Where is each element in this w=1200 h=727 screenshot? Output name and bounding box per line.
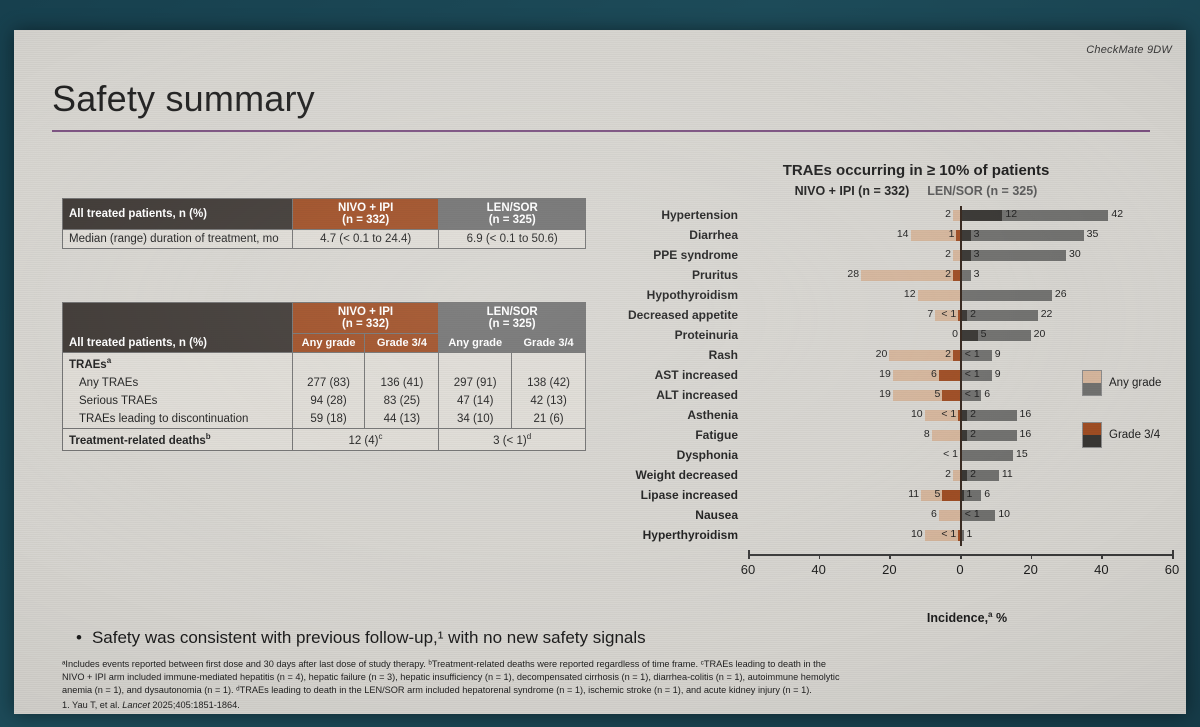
footnote-marker-a: a: [107, 356, 111, 365]
legend-swatch: [1082, 370, 1102, 396]
cell-any-traes-nivo-g34: 136 (41): [365, 374, 439, 392]
bar-label-len-any-grade: 3: [974, 268, 980, 280]
footnote-marker-c: c: [378, 432, 382, 441]
chart-category-label: ALT increased: [610, 388, 738, 402]
row-label-discontinuation: TRAEs leading to discontinuation: [63, 410, 293, 429]
cell-blank: [439, 353, 512, 374]
axis-tick: [1031, 554, 1033, 559]
bar-label-len-grade34: 1: [967, 488, 973, 500]
chart-row: Decreased appetite7< 1222: [610, 306, 1186, 326]
chart-category-label: PPE syndrome: [610, 248, 738, 262]
cell-serious-traes-len-g34: 42 (13): [512, 392, 586, 410]
chart-category-label: Weight decreased: [610, 468, 738, 482]
chart-category-label: Diarrhea: [610, 228, 738, 242]
bar-label-nivo-any-grade: 2: [945, 468, 951, 480]
bar-nivo-grade34: [953, 350, 960, 361]
bar-label-len-grade34: 5: [981, 328, 987, 340]
table-row: Treatment-related deathsb 12 (4)c 3 (< 1…: [63, 428, 586, 450]
bar-nivo-grade34: [942, 390, 960, 401]
table-header-nivo: NIVO + IPI (n = 332): [292, 303, 439, 334]
legend-label: Grade 3/4: [1109, 429, 1160, 441]
bar-label-nivo-any-grade: 6: [931, 508, 937, 520]
bar-len-any-grade: [960, 450, 1013, 461]
cell-any-traes-len-g34: 138 (42): [512, 374, 586, 392]
cell-blank: [292, 353, 365, 374]
chart-legend: Any gradeGrade 3/4: [1082, 370, 1182, 474]
footnote-marker-d: d: [527, 432, 531, 441]
bar-nivo-grade34: [939, 370, 960, 381]
bar-label-len-grade34: 2: [970, 428, 976, 440]
bar-label-nivo-grade34: 1: [949, 228, 955, 240]
chart-zero-line: [960, 206, 962, 546]
bar-label-nivo-any-grade: 19: [879, 368, 891, 380]
chart-category-label: AST increased: [610, 368, 738, 382]
cell-disc-nivo-any: 59 (18): [292, 410, 365, 429]
cell-disc-nivo-g34: 44 (13): [365, 410, 439, 429]
subheader-nivo-any-grade: Any grade: [292, 334, 365, 353]
bar-label-nivo-any-grade: 19: [879, 388, 891, 400]
header-len-name: LEN/SOR: [445, 202, 579, 214]
chart-row: Hypothyroidism1226: [610, 286, 1186, 306]
footnote-line-3: anemia (n = 1), and dysautonomia (n = 1)…: [62, 684, 1152, 697]
chart-category-label: Rash: [610, 348, 738, 362]
bar-nivo-any-grade: [953, 210, 960, 221]
axis-label-text: Incidence,: [927, 611, 988, 625]
chart-x-axis-label: Incidence,a %: [748, 610, 1186, 625]
axis-tick-label: 40: [811, 562, 825, 577]
bar-label-nivo-any-grade: 11: [908, 488, 919, 500]
bar-label-nivo-any-grade: < 1: [943, 448, 958, 460]
table-row: TRAEs leading to discontinuation 59 (18)…: [63, 410, 586, 429]
bar-len-any-grade: [960, 290, 1052, 301]
bar-label-len-grade34: 3: [974, 228, 980, 240]
chart-row: Nausea6< 110: [610, 506, 1186, 526]
bar-label-len-grade34: < 1: [965, 388, 980, 400]
table-row: TRAEsa: [63, 353, 586, 374]
bar-label-len-grade34: 12: [1005, 208, 1017, 220]
chart-arm-label-len: LEN/SOR (n = 325): [927, 184, 1037, 198]
bar-label-nivo-any-grade: 14: [897, 228, 909, 240]
chart-category-label: Lipase increased: [610, 488, 738, 502]
bar-label-nivo-grade34: 2: [945, 348, 951, 360]
legend-swatch: [1082, 422, 1102, 448]
chart-category-label: Proteinuria: [610, 328, 738, 342]
bar-label-nivo-grade34: < 1: [941, 408, 956, 420]
bar-label-len-grade34: < 1: [965, 368, 980, 380]
bar-label-nivo-grade34: 5: [934, 488, 940, 500]
bar-label-nivo-any-grade: 20: [876, 348, 888, 360]
key-takeaway-bullet: •Safety was consistent with previous fol…: [76, 628, 646, 648]
presentation-slide: CheckMate 9DW Safety summary All treated…: [14, 30, 1186, 714]
table-row: Serious TRAEs 94 (28) 83 (25) 47 (14) 42…: [63, 392, 586, 410]
chart-row: Pruritus2823: [610, 266, 1186, 286]
cell-median-duration-len: 6.9 (< 0.1 to 50.6): [439, 230, 586, 249]
legend-item: Any grade: [1082, 370, 1182, 396]
chart-row: PPE syndrome2330: [610, 246, 1186, 266]
legend-item: Grade 3/4: [1082, 422, 1182, 448]
bar-nivo-grade34: [953, 270, 960, 281]
row-label-any-traes: Any TRAEs: [63, 374, 293, 392]
chart-category-label: Decreased appetite: [610, 308, 738, 322]
bar-label-len-grade34: 2: [970, 408, 976, 420]
bar-len-any-grade: [960, 430, 1017, 441]
table-row: Any TRAEs 277 (83) 136 (41) 297 (91) 138…: [63, 374, 586, 392]
bar-label-len-any-grade: 9: [995, 368, 1001, 380]
bar-nivo-any-grade: [953, 470, 960, 481]
cell-disc-len-any: 34 (10): [439, 410, 512, 429]
table-treatment-duration: All treated patients, n (%) NIVO + IPI (…: [62, 198, 586, 249]
bar-nivo-any-grade: [939, 510, 960, 521]
table-header-row-label: All treated patients, n (%): [63, 303, 293, 353]
bar-label-nivo-grade34: < 1: [941, 308, 956, 320]
bar-nivo-grade34: [942, 490, 960, 501]
footnotes: ᵃIncludes events reported between first …: [62, 658, 1152, 712]
page-title: Safety summary: [52, 78, 315, 120]
cell-disc-len-g34: 21 (6): [512, 410, 586, 429]
chart-category-label: Fatigue: [610, 428, 738, 442]
bar-label-nivo-any-grade: 0: [952, 328, 958, 340]
header-nivo-n: (n = 332): [299, 318, 433, 330]
row-label-serious-traes: Serious TRAEs: [63, 392, 293, 410]
bar-label-len-any-grade: 1: [967, 528, 973, 540]
bar-label-len-any-grade: 22: [1041, 308, 1053, 320]
axis-end-cap: [1172, 550, 1174, 555]
cell-median-duration-nivo: 4.7 (< 0.1 to 24.4): [292, 230, 439, 249]
row-label-treatment-related-deaths: Treatment-related deathsb: [63, 428, 293, 450]
axis-tick-label: 60: [1165, 562, 1179, 577]
chart-category-label: Asthenia: [610, 408, 738, 422]
bar-label-nivo-any-grade: 2: [945, 208, 951, 220]
cell-deaths-len: 3 (< 1)d: [439, 428, 586, 450]
bar-label-nivo-grade34: 5: [934, 388, 940, 400]
bar-len-grade34: [960, 330, 978, 341]
bar-label-len-any-grade: 20: [1034, 328, 1046, 340]
bar-len-any-grade: [960, 270, 971, 281]
table-row: All treated patients, n (%) NIVO + IPI (…: [63, 303, 586, 334]
table-header-row-label: All treated patients, n (%): [63, 199, 293, 230]
bar-label-len-any-grade: 6: [984, 488, 990, 500]
bar-label-len-grade34: < 1: [965, 348, 980, 360]
chart-row: Hyperthyroidism10< 11: [610, 526, 1186, 546]
axis-tick: [819, 554, 821, 559]
subheader-nivo-grade34: Grade 3/4: [365, 334, 439, 353]
bar-nivo-any-grade: [953, 250, 960, 261]
bar-label-len-any-grade: 9: [995, 348, 1001, 360]
chart-row: Rash202< 19: [610, 346, 1186, 366]
bar-label-nivo-grade34: < 1: [941, 528, 956, 540]
legend-label: Any grade: [1109, 377, 1161, 389]
bar-len-any-grade: [960, 410, 1017, 421]
header-nivo-name: NIVO + IPI: [299, 306, 433, 318]
footnote-reference: 1. Yau T, et al. Lancet 2025;405:1851-18…: [62, 699, 1152, 712]
row-section-traes: TRAEsa: [63, 353, 293, 374]
bar-len-grade34: [960, 210, 1002, 221]
bar-label-len-any-grade: 6: [984, 388, 990, 400]
axis-tick-label: 20: [1023, 562, 1037, 577]
bar-label-len-grade34: 2: [970, 468, 976, 480]
bar-label-nivo-any-grade: 10: [911, 528, 923, 540]
bar-label-nivo-any-grade: 10: [911, 408, 923, 420]
bar-len-grade34: [960, 230, 971, 241]
header-len-n: (n = 325): [445, 318, 579, 330]
chart-x-axis: 6040200204060: [748, 554, 1172, 588]
bar-label-nivo-any-grade: 8: [924, 428, 930, 440]
subheader-len-any-grade: Any grade: [439, 334, 512, 353]
table-row: Median (range) duration of treatment, mo…: [63, 230, 586, 249]
bar-label-nivo-grade34: 6: [931, 368, 937, 380]
footnote-line-1: ᵃIncludes events reported between first …: [62, 658, 1152, 671]
cell-serious-traes-len-any: 47 (14): [439, 392, 512, 410]
axis-label-unit: %: [993, 611, 1008, 625]
bar-len-grade34: [960, 250, 971, 261]
chart-row: Lipase increased11516: [610, 486, 1186, 506]
chart-row: Diarrhea141335: [610, 226, 1186, 246]
cell-any-traes-nivo-any: 277 (83): [292, 374, 365, 392]
table-row: All treated patients, n (%) NIVO + IPI (…: [63, 199, 586, 230]
cell-any-traes-len-any: 297 (91): [439, 374, 512, 392]
chart-row: Proteinuria0520: [610, 326, 1186, 346]
cell-blank: [365, 353, 439, 374]
bar-label-len-grade34: < 1: [965, 508, 980, 520]
subheader-len-grade34: Grade 3/4: [512, 334, 586, 353]
bar-label-len-grade34: 2: [970, 308, 976, 320]
bar-label-len-any-grade: 26: [1055, 288, 1067, 300]
bar-nivo-any-grade: [918, 290, 960, 301]
bar-label-nivo-any-grade: 7: [927, 308, 933, 320]
header-nivo-n: (n = 332): [299, 214, 433, 226]
axis-tick-label: 60: [741, 562, 755, 577]
axis-tick: [960, 554, 962, 559]
footnote-line-2: NIVO + IPI arm included immune-mediated …: [62, 671, 1152, 684]
chart-category-label: Hypertension: [610, 208, 738, 222]
bullet-text: Safety was consistent with previous foll…: [92, 628, 646, 647]
traes-diverging-bar-chart: TRAEs occurring in ≥ 10% of patients NIV…: [610, 162, 1186, 632]
bar-nivo-any-grade: [932, 430, 960, 441]
bar-label-len-any-grade: 35: [1087, 228, 1099, 240]
chart-category-label: Nausea: [610, 508, 738, 522]
chart-category-label: Dysphonia: [610, 448, 738, 462]
axis-tick-label: 20: [882, 562, 896, 577]
axis-end-cap: [748, 550, 750, 555]
bar-label-len-grade34: 3: [974, 248, 980, 260]
chart-category-label: Hypothyroidism: [610, 288, 738, 302]
deck-tag: CheckMate 9DW: [1086, 44, 1172, 56]
photo-frame: CheckMate 9DW Safety summary All treated…: [0, 0, 1200, 727]
bar-label-nivo-any-grade: 2: [945, 248, 951, 260]
table-header-len: LEN/SOR (n = 325): [439, 303, 586, 334]
bar-label-nivo-grade34: 2: [945, 268, 951, 280]
cell-serious-traes-nivo-any: 94 (28): [292, 392, 365, 410]
bar-label-len-any-grade: 16: [1020, 428, 1032, 440]
header-nivo-name: NIVO + IPI: [299, 202, 433, 214]
bar-label-nivo-any-grade: 12: [904, 288, 916, 300]
bar-label-len-any-grade: 10: [998, 508, 1010, 520]
footnote-marker-b: b: [206, 432, 211, 441]
bar-label-len-any-grade: 11: [1002, 468, 1013, 480]
axis-tick-label: 40: [1094, 562, 1108, 577]
table-traes-summary: All treated patients, n (%) NIVO + IPI (…: [62, 302, 586, 451]
title-divider: [52, 130, 1150, 132]
table-header-nivo: NIVO + IPI (n = 332): [292, 199, 439, 230]
cell-serious-traes-nivo-g34: 83 (25): [365, 392, 439, 410]
bar-label-len-any-grade: 15: [1016, 448, 1028, 460]
chart-row: Hypertension21242: [610, 206, 1186, 226]
bar-label-len-any-grade: 30: [1069, 248, 1081, 260]
bar-label-len-any-grade: 42: [1111, 208, 1123, 220]
axis-tick: [1101, 554, 1103, 559]
cell-deaths-nivo: 12 (4)c: [292, 428, 439, 450]
chart-category-label: Pruritus: [610, 268, 738, 282]
axis-tick-label: 0: [956, 562, 963, 577]
chart-title: TRAEs occurring in ≥ 10% of patients: [646, 162, 1186, 179]
header-len-name: LEN/SOR: [445, 306, 579, 318]
chart-category-label: Hyperthyroidism: [610, 528, 738, 542]
bar-label-len-any-grade: 16: [1020, 408, 1032, 420]
chart-arm-headers: NIVO + IPI (n = 332) LEN/SOR (n = 325): [646, 184, 1186, 198]
chart-arm-label-nivo: NIVO + IPI (n = 332): [795, 184, 910, 198]
bar-label-nivo-any-grade: 28: [847, 268, 859, 280]
axis-tick: [889, 554, 891, 559]
bullet-dot-icon: •: [76, 628, 82, 647]
table-header-len: LEN/SOR (n = 325): [439, 199, 586, 230]
header-len-n: (n = 325): [445, 214, 579, 226]
row-label-median-duration: Median (range) duration of treatment, mo: [63, 230, 293, 249]
cell-blank: [512, 353, 586, 374]
